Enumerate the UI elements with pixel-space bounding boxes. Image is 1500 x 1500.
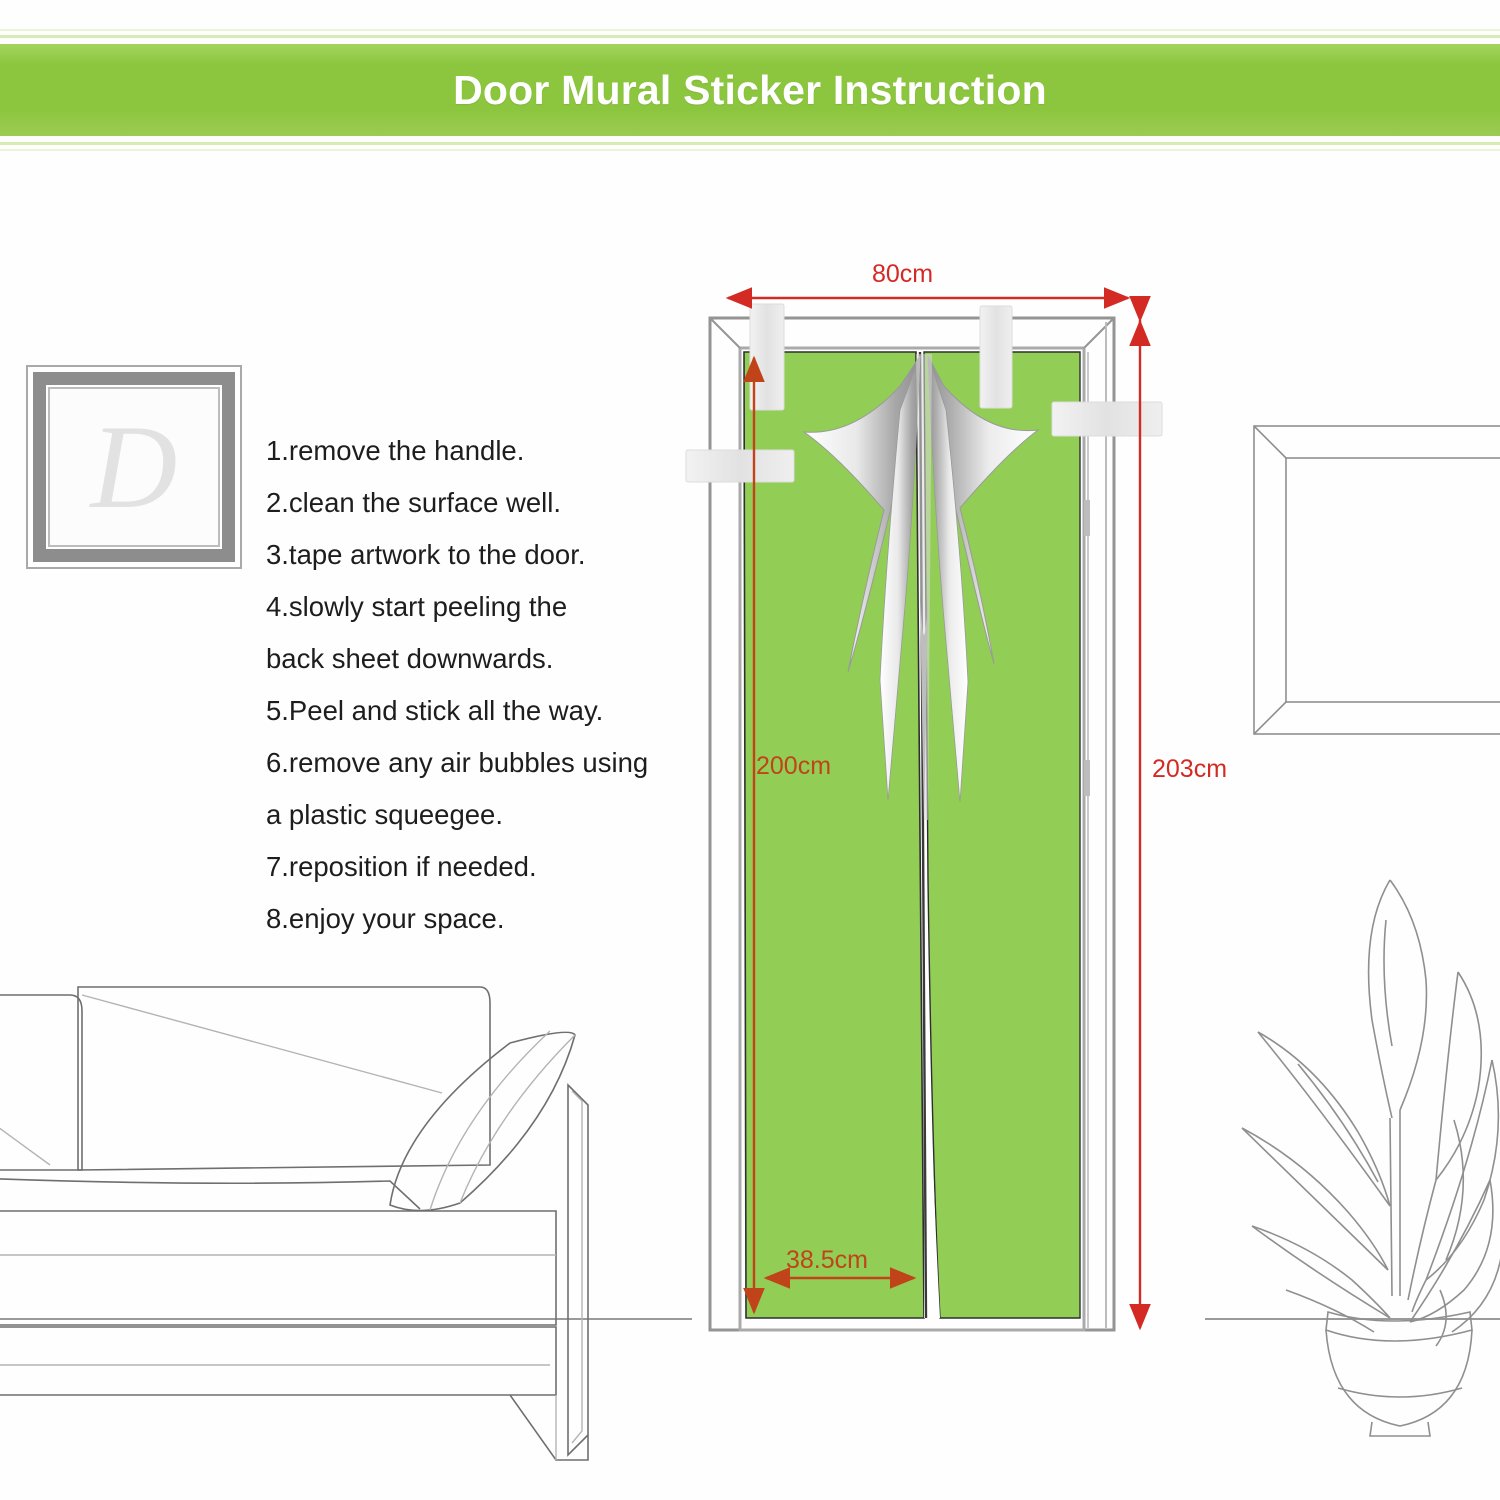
banner-rule-bottom (0, 142, 1500, 145)
instruction-step: back sheet downwards. (266, 633, 686, 685)
instruction-step: 8.enjoy your space. (266, 893, 686, 945)
frame-artwork-letter: D (48, 387, 220, 547)
instruction-step: 2.clean the surface well. (266, 477, 686, 529)
hinge-lower (1084, 760, 1090, 796)
page-title: Door Mural Sticker Instruction (453, 67, 1047, 114)
instruction-step: 4.slowly start peeling the (266, 581, 686, 633)
instruction-step: 5.Peel and stick all the way. (266, 685, 686, 737)
hinge-upper (1084, 500, 1090, 536)
instruction-step: 6.remove any air bubbles using (266, 737, 686, 789)
sofa-illustration (0, 965, 630, 1475)
label-mural-height: 200cm (756, 752, 831, 781)
instruction-list: 1.remove the handle. 2.clean the surface… (266, 425, 686, 945)
label-panel-width: 38.5cm (786, 1246, 868, 1275)
banner-rule-top (0, 35, 1500, 38)
banner-bar: Door Mural Sticker Instruction (0, 44, 1500, 136)
banner-rule-top-outer (0, 29, 1500, 31)
wall-picture-frame: D (26, 365, 242, 569)
instruction-step: 3.tape artwork to the door. (266, 529, 686, 581)
banner-rule-bottom-outer (0, 149, 1500, 151)
tape-left-side (686, 450, 794, 482)
instruction-step: 7.reposition if needed. (266, 841, 686, 893)
plant-illustration (1240, 860, 1500, 1440)
door-mural-diagram (688, 260, 1248, 1350)
label-frame-height: 203cm (1152, 755, 1227, 784)
header-banner: Door Mural Sticker Instruction (0, 44, 1500, 136)
instruction-step: a plastic squeegee. (266, 789, 686, 841)
tape-top-right (980, 306, 1012, 408)
right-wall-frame (1252, 424, 1500, 736)
instruction-step: 1.remove the handle. (266, 425, 686, 477)
tape-right-side (1052, 402, 1162, 436)
label-door-width: 80cm (872, 260, 933, 289)
instruction-sheet: Door Mural Sticker Instruction D 1.remov… (0, 0, 1500, 1500)
